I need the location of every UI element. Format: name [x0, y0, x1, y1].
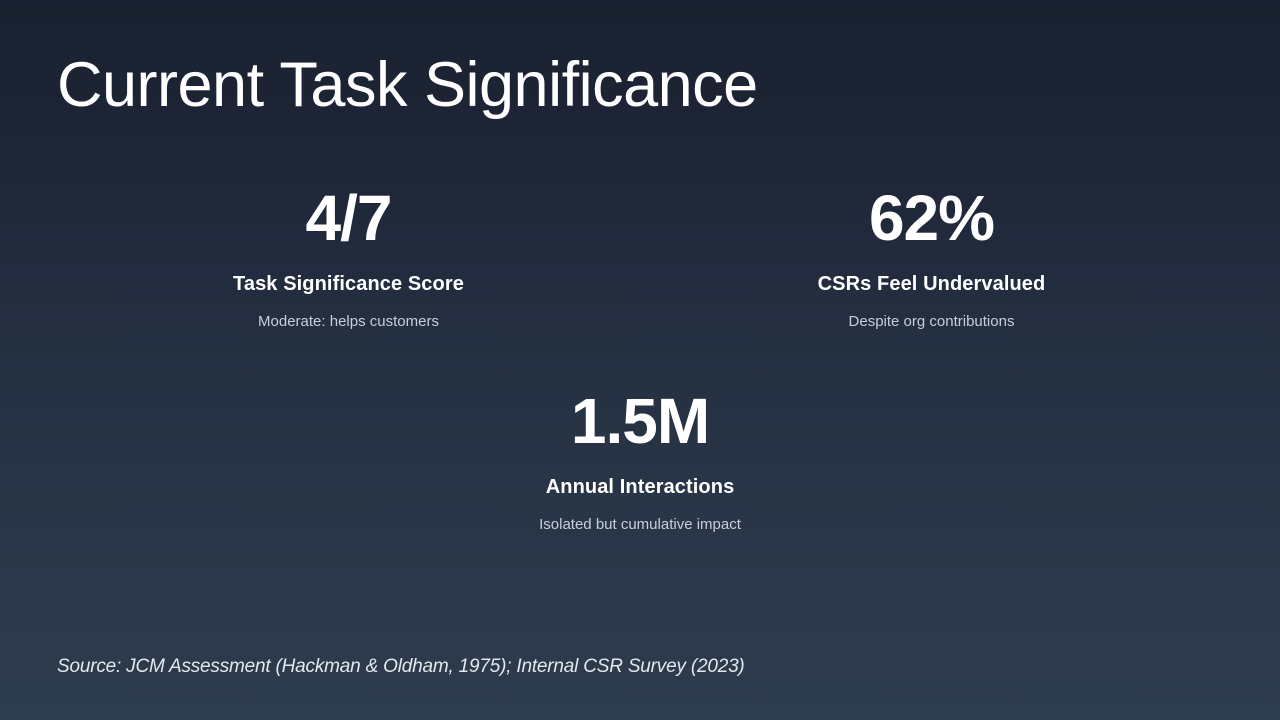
stat-block-task-significance-score: 4/7 Task Significance Score Moderate: he…	[57, 186, 640, 331]
stat-block-csrs-feel-undervalued: 62% CSRs Feel Undervalued Despite org co…	[640, 186, 1223, 331]
stat-sublabel: Isolated but cumulative impact	[359, 515, 922, 535]
stats-grid: 4/7 Task Significance Score Moderate: he…	[57, 186, 1223, 535]
stat-value: 4/7	[67, 186, 630, 252]
slide-canvas: Current Task Significance 4/7 Task Signi…	[0, 0, 1280, 720]
stat-sublabel: Moderate: helps customers	[67, 312, 630, 332]
stat-value: 62%	[650, 186, 1213, 252]
source-citation: Source: JCM Assessment (Hackman & Oldham…	[57, 655, 745, 680]
stat-label: Task Significance Score	[67, 272, 630, 297]
stat-value: 1.5M	[359, 389, 922, 455]
page-title: Current Task Significance	[57, 50, 758, 121]
stat-sublabel: Despite org contributions	[650, 312, 1213, 332]
stat-label: Annual Interactions	[359, 475, 922, 500]
stat-block-annual-interactions: 1.5M Annual Interactions Isolated but cu…	[349, 389, 932, 534]
stat-label: CSRs Feel Undervalued	[650, 272, 1213, 297]
